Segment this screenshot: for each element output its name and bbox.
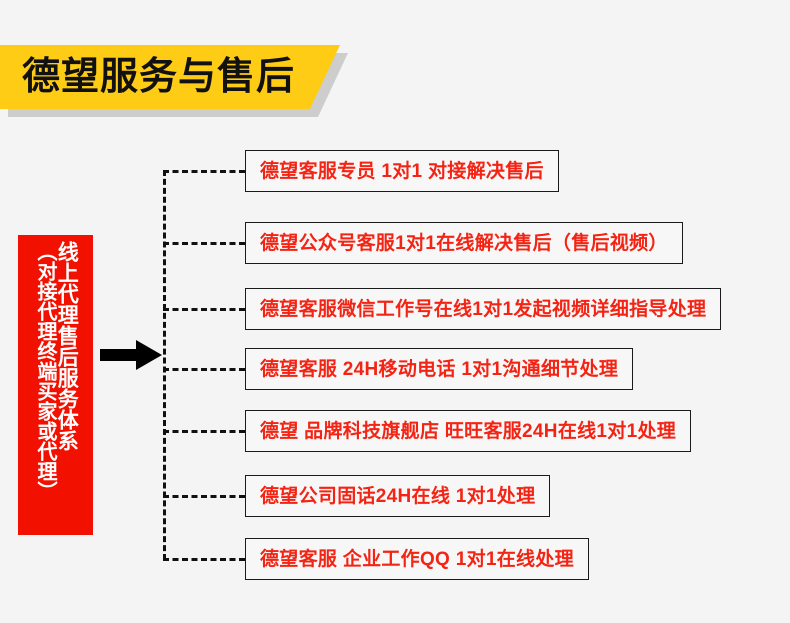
node-label-5: 德望 品牌科技旗舰店 旺旺客服24H在线1对1处理 xyxy=(260,422,676,441)
node-row-1: 德望客服专员 1对1 对接解决售后 xyxy=(163,150,559,192)
node-label-2: 德望公众号客服1对1在线解决售后（售后视频） xyxy=(260,234,668,253)
node-box-6[interactable]: 德望公司固话24H在线 1对1处理 xyxy=(245,475,550,517)
arrow-right-icon xyxy=(100,340,162,370)
source-label-sub-text: （对接代理终端买家或代理） xyxy=(34,241,55,501)
node-label-6: 德望公司固话24H在线 1对1处理 xyxy=(260,487,535,506)
node-row-7: 德望客服 企业工作QQ 1对1在线处理 xyxy=(163,538,589,580)
node-row-4: 德望客服 24H移动电话 1对1沟通细节处理 xyxy=(163,348,633,390)
node-box-7[interactable]: 德望客服 企业工作QQ 1对1在线处理 xyxy=(245,538,589,580)
node-label-1: 德望客服专员 1对1 对接解决售后 xyxy=(260,162,544,181)
connector-branch-2 xyxy=(163,242,245,245)
connector-branch-3 xyxy=(163,308,245,311)
node-box-5[interactable]: 德望 品牌科技旗舰店 旺旺客服24H在线1对1处理 xyxy=(245,410,691,452)
source-label: 线上代理售后服务体系 （对接代理终端买家或代理） xyxy=(18,235,93,535)
header-banner: 德望服务与售后 xyxy=(0,45,348,111)
node-row-5: 德望 品牌科技旗舰店 旺旺客服24H在线1对1处理 xyxy=(163,410,691,452)
node-box-4[interactable]: 德望客服 24H移动电话 1对1沟通细节处理 xyxy=(245,348,633,390)
connector-branch-1 xyxy=(163,170,245,173)
node-box-3[interactable]: 德望客服微信工作号在线1对1发起视频详细指导处理 xyxy=(245,288,721,330)
connector-branch-5 xyxy=(163,430,245,433)
node-box-2[interactable]: 德望公众号客服1对1在线解决售后（售后视频） xyxy=(245,222,683,264)
connector-branch-7 xyxy=(163,558,245,561)
node-label-7: 德望客服 企业工作QQ 1对1在线处理 xyxy=(260,550,574,569)
node-row-3: 德望客服微信工作号在线1对1发起视频详细指导处理 xyxy=(163,288,721,330)
node-row-2: 德望公众号客服1对1在线解决售后（售后视频） xyxy=(163,222,683,264)
node-label-3: 德望客服微信工作号在线1对1发起视频详细指导处理 xyxy=(260,300,706,319)
node-label-4: 德望客服 24H移动电话 1对1沟通细节处理 xyxy=(260,360,618,379)
source-label-main-text: 线上代理售后服务体系 xyxy=(55,241,77,451)
connector-branch-6 xyxy=(163,495,245,498)
node-box-1[interactable]: 德望客服专员 1对1 对接解决售后 xyxy=(245,150,559,192)
node-row-6: 德望公司固话24H在线 1对1处理 xyxy=(163,475,550,517)
header-banner-shape: 德望服务与售后 xyxy=(0,45,340,109)
connector-branch-4 xyxy=(163,368,245,371)
page-title: 德望服务与售后 xyxy=(22,58,295,96)
infographic-canvas: 德望服务与售后 线上代理售后服务体系 （对接代理终端买家或代理） 德望客服专员 … xyxy=(0,0,790,623)
